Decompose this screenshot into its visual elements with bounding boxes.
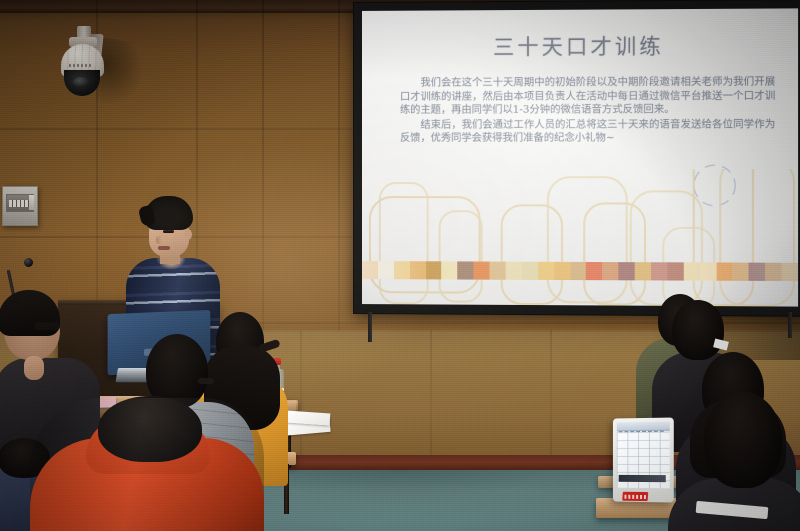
slide-title: 三十天口才训练	[362, 30, 798, 62]
wainscot-seam	[300, 330, 302, 456]
color-band-cell-3	[410, 261, 426, 279]
color-band-cell-2	[394, 261, 410, 279]
laptop-sticker	[622, 492, 648, 501]
color-band-cell-12	[554, 262, 570, 280]
camera-lens	[64, 70, 100, 96]
color-band-cell-0	[362, 261, 378, 279]
color-band-cell-25	[765, 263, 781, 281]
color-band-cell-9	[506, 262, 522, 280]
attendee-glasses	[34, 322, 60, 330]
color-band-cell-5	[442, 261, 458, 279]
color-band-cell-23	[733, 263, 749, 281]
color-band-cell-4	[426, 261, 442, 279]
presenter-mouth	[158, 246, 170, 250]
screen-support-pole	[788, 312, 792, 338]
presenter-ear	[184, 229, 192, 240]
ptz-dome-camera	[55, 26, 109, 104]
audience-laptop-screen[interactable]	[617, 422, 670, 489]
color-band-cell-10	[522, 262, 538, 280]
attendee-hand	[24, 356, 44, 380]
color-band-cell-21	[700, 262, 716, 280]
camera-brand-label	[69, 64, 91, 67]
presenter-nose	[156, 236, 162, 244]
projection-screen: 三十天口才训练 我们会在这个三十天周期中的初始阶段以及中期阶段邀请相关老师为我们…	[353, 0, 800, 317]
rounded-rect-decorations	[362, 169, 798, 307]
slide-body: 我们会在这个三十天周期中的初始阶段以及中期阶段邀请相关老师为我们开展口才训练的讲…	[400, 76, 775, 146]
slide-color-band	[362, 261, 798, 281]
color-band-cell-18	[651, 262, 667, 280]
color-band-cell-13	[570, 262, 586, 280]
color-band-cell-19	[667, 262, 683, 280]
wainscot-seam	[550, 330, 552, 456]
screen-support-pole	[368, 312, 372, 342]
presenter-eye	[163, 230, 174, 233]
color-band-cell-26	[782, 263, 798, 281]
color-band-cell-16	[619, 262, 635, 280]
breaker-switches[interactable]	[9, 200, 31, 207]
attendee-orange-hoodie	[30, 398, 264, 531]
slide-paragraph-2: 结束后，我们会通过工作人员的汇总将这三十天来的语音发送给各位同学作为反馈，优秀同…	[400, 118, 775, 146]
color-band-cell-11	[538, 262, 554, 280]
color-band-cell-6	[458, 261, 474, 279]
projection-screen-surface: 三十天口才训练 我们会在这个三十天周期中的初始阶段以及中期阶段邀请相关老师为我们…	[362, 8, 798, 306]
panel-latch[interactable]	[29, 195, 34, 210]
microphone-capsule	[24, 258, 33, 267]
wainscot-seam	[430, 330, 432, 456]
color-band-cell-1	[378, 261, 394, 279]
color-band-cell-14	[586, 262, 602, 280]
color-band-cell-15	[602, 262, 618, 280]
color-band-cell-8	[490, 262, 506, 280]
slide-paragraph-1: 我们会在这个三十天周期中的初始阶段以及中期阶段邀请相关老师为我们开展口才训练的讲…	[400, 76, 775, 118]
color-band-cell-24	[749, 263, 765, 281]
color-band-cell-20	[684, 262, 700, 280]
color-band-cell-17	[635, 262, 651, 280]
color-band-cell-7	[474, 261, 490, 279]
color-band-cell-22	[716, 262, 732, 280]
electrical-panel[interactable]	[2, 186, 38, 226]
attendee-foreground-right	[674, 392, 800, 531]
attendee-head	[98, 396, 202, 462]
attendee-head	[672, 300, 724, 360]
audience-laptop-lid	[613, 417, 674, 502]
attendee-head	[704, 392, 782, 488]
presenter-hair	[144, 196, 193, 230]
audience-laptop[interactable]	[612, 418, 688, 518]
spreadsheet-toolbar[interactable]	[617, 422, 670, 432]
attendee-glasses	[198, 378, 214, 384]
lecture-hall-photo: 三十天口才训练 我们会在这个三十天周期中的初始阶段以及中期阶段邀请相关老师为我们…	[0, 0, 800, 531]
spreadsheet-selected-row	[619, 475, 666, 482]
